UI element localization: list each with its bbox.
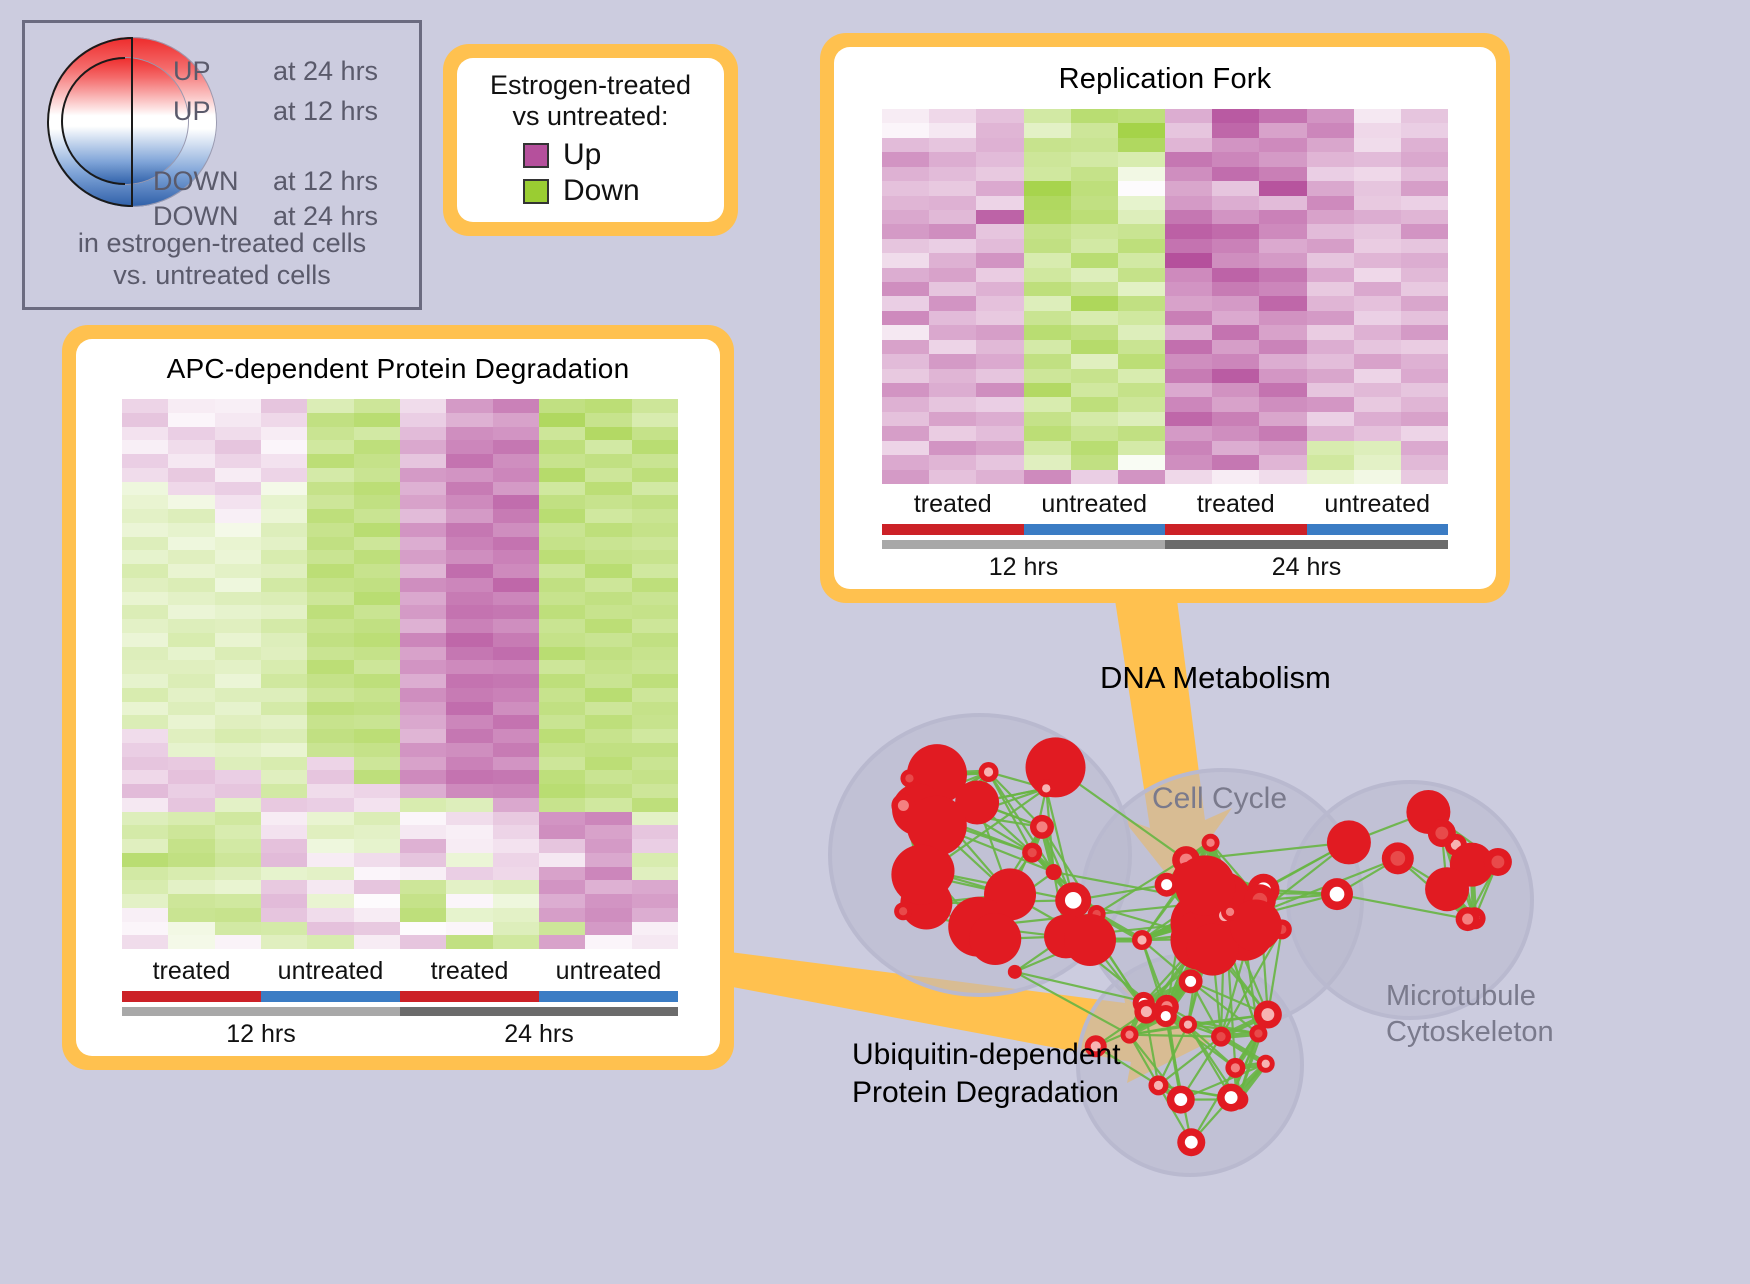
network-label-dna-metabolism: DNA Metabolism [1100, 660, 1331, 696]
heatmap-cell [882, 181, 929, 195]
heatmap-cell [354, 509, 400, 523]
heatmap-cell [1024, 369, 1071, 383]
heatmap-cell [1165, 354, 1212, 368]
heatmap-cell [929, 196, 976, 210]
heatmap-cell [168, 688, 214, 702]
apc-title: APC-dependent Protein Degradation [76, 339, 720, 385]
heatmap-cell [261, 853, 307, 867]
heatmap-cell [1259, 239, 1306, 253]
key-title-line1: Estrogen-treated [467, 70, 714, 101]
heatmap-cell [539, 922, 585, 936]
heatmap-cell [1165, 383, 1212, 397]
heatmap-cell [493, 468, 539, 482]
heatmap-cell [585, 619, 631, 633]
heatmap-cell [632, 853, 678, 867]
heatmap-cell [493, 454, 539, 468]
heatmap-cell [307, 784, 353, 798]
heatmap-cell [400, 867, 446, 881]
heatmap-cell [446, 523, 492, 537]
heatmap-cell [446, 880, 492, 894]
heatmap-cell [1165, 138, 1212, 152]
heatmap-cell [307, 757, 353, 771]
heatmap-cell [1259, 167, 1306, 181]
heatmap-cell [1165, 224, 1212, 238]
heatmap-cell [929, 354, 976, 368]
heatmap-cell [1307, 296, 1354, 310]
heatmap-cell [307, 922, 353, 936]
heatmap-cell [929, 138, 976, 152]
heatmap-cell [632, 427, 678, 441]
heatmap-cell [539, 454, 585, 468]
heatmap-cell [493, 798, 539, 812]
heatmap-cell [1165, 123, 1212, 137]
heatmap-cell [261, 825, 307, 839]
heatmap-cell [1024, 167, 1071, 181]
heatmap-cell [1165, 152, 1212, 166]
heatmap-cell [976, 123, 1023, 137]
heatmap-cell [168, 647, 214, 661]
heatmap-cell [168, 743, 214, 757]
legend-time-down-12: at 12 hrs [273, 166, 378, 197]
heatmap-cell [168, 482, 214, 496]
replication-fork-panel: Replication Fork treateduntreatedtreated… [820, 33, 1510, 603]
group-bar-segment [1165, 540, 1448, 549]
heatmap-cell [585, 853, 631, 867]
heatmap-cell [446, 427, 492, 441]
heatmap-cell [354, 523, 400, 537]
heatmap-cell [929, 282, 976, 296]
heatmap-cell [446, 509, 492, 523]
heatmap-cell [1118, 152, 1165, 166]
heatmap-cell [539, 660, 585, 674]
column-group-label: untreated [1307, 490, 1449, 519]
heatmap-cell [400, 729, 446, 743]
apc-time-labels: 12 hrs24 hrs [122, 1020, 678, 1049]
heatmap-cell [261, 413, 307, 427]
heatmap-cell [1307, 181, 1354, 195]
heatmap-cell [1307, 311, 1354, 325]
column-group-label: untreated [1024, 490, 1166, 519]
heatmap-cell [632, 454, 678, 468]
column-group-label: treated [400, 957, 539, 986]
heatmap-cell [215, 454, 261, 468]
heatmap-cell [122, 468, 168, 482]
heatmap-cell [1259, 325, 1306, 339]
heatmap-cell [929, 311, 976, 325]
heatmap-cell [929, 426, 976, 440]
heatmap-cell [261, 812, 307, 826]
heatmap-cell [261, 592, 307, 606]
heatmap-cell [1259, 123, 1306, 137]
heatmap-cell [493, 784, 539, 798]
heatmap-cell [1259, 152, 1306, 166]
heatmap-cell [446, 867, 492, 881]
heatmap-cell [307, 440, 353, 454]
heatmap-cell [585, 399, 631, 413]
heatmap-cell [976, 412, 1023, 426]
heatmap-cell [354, 550, 400, 564]
heatmap-cell [446, 853, 492, 867]
heatmap-cell [1401, 340, 1448, 354]
heatmap-cell [632, 495, 678, 509]
heatmap-cell [354, 922, 400, 936]
heatmap-cell [493, 578, 539, 592]
heatmap-cell [493, 537, 539, 551]
heatmap-cell [1307, 426, 1354, 440]
heatmap-cell [215, 674, 261, 688]
heatmap-cell [215, 702, 261, 716]
heatmap-cell [122, 578, 168, 592]
heatmap-cell [976, 210, 1023, 224]
heatmap-cell [493, 413, 539, 427]
heatmap-cell [168, 523, 214, 537]
heatmap-cell [354, 578, 400, 592]
heatmap-cell [1354, 455, 1401, 469]
legend-state-up-12: UP [173, 96, 211, 127]
heatmap-cell [354, 770, 400, 784]
heatmap-cell [976, 253, 1023, 267]
heatmap-cell [1071, 441, 1118, 455]
heatmap-cell [168, 770, 214, 784]
heatmap-cell [1307, 224, 1354, 238]
heatmap-cell [354, 935, 400, 949]
heatmap-cell [261, 633, 307, 647]
heatmap-cell [1071, 470, 1118, 484]
heatmap-cell [493, 509, 539, 523]
heatmap-cell [446, 633, 492, 647]
heatmap-cell [400, 688, 446, 702]
heatmap-cell [1071, 325, 1118, 339]
heatmap-cell [261, 605, 307, 619]
heatmap-cell [929, 109, 976, 123]
heatmap-cell [1118, 426, 1165, 440]
heatmap-cell [493, 647, 539, 661]
heatmap-cell [539, 605, 585, 619]
heatmap-cell [1354, 369, 1401, 383]
heatmap-cell [122, 880, 168, 894]
heatmap-cell [215, 935, 261, 949]
heatmap-cell [882, 455, 929, 469]
heatmap-cell [215, 729, 261, 743]
heatmap-cell [168, 550, 214, 564]
heatmap-cell [1118, 123, 1165, 137]
heatmap-cell [585, 867, 631, 881]
heatmap-cell [1259, 455, 1306, 469]
heatmap-cell [122, 922, 168, 936]
heatmap-cell [1118, 325, 1165, 339]
heatmap-cell [493, 743, 539, 757]
heatmap-cell [1212, 181, 1259, 195]
heatmap-cell [882, 325, 929, 339]
heatmap-cell [585, 812, 631, 826]
heatmap-cell [122, 674, 168, 688]
heatmap-cell [215, 427, 261, 441]
heatmap-cell [1354, 296, 1401, 310]
heatmap-cell [122, 633, 168, 647]
heatmap-cell [1165, 268, 1212, 282]
heatmap-cell [632, 702, 678, 716]
heatmap-cell [1401, 354, 1448, 368]
heatmap-cell [1118, 224, 1165, 238]
heatmap-cell [168, 894, 214, 908]
heatmap-cell [632, 550, 678, 564]
heatmap-cell [493, 495, 539, 509]
heatmap-cell [400, 454, 446, 468]
heatmap-cell [539, 757, 585, 771]
heatmap-cell [307, 935, 353, 949]
heatmap-cell [1071, 253, 1118, 267]
network-node-core [1462, 914, 1473, 925]
column-group-label: treated [122, 957, 261, 986]
heatmap-cell [585, 825, 631, 839]
heatmap-cell [632, 674, 678, 688]
heatmap-cell [1165, 296, 1212, 310]
heatmap-cell [1401, 196, 1448, 210]
heatmap-cell [493, 812, 539, 826]
heatmap-cell [1212, 210, 1259, 224]
heatmap-cell [1259, 224, 1306, 238]
heatmap-cell [1307, 123, 1354, 137]
heatmap-cell [1354, 325, 1401, 339]
heatmap-cell [882, 383, 929, 397]
heatmap-cell [446, 495, 492, 509]
heatmap-cell [215, 743, 261, 757]
heatmap-cell [493, 482, 539, 496]
heatmap-cell [493, 853, 539, 867]
heatmap-cell [1118, 196, 1165, 210]
heatmap-cell [1024, 426, 1071, 440]
heatmap-cell [1401, 369, 1448, 383]
heatmap-cell [1024, 181, 1071, 195]
heatmap-cell [539, 853, 585, 867]
network-node [1046, 864, 1062, 880]
heatmap-cell [493, 592, 539, 606]
heatmap-cell [307, 399, 353, 413]
heatmap-cell [976, 109, 1023, 123]
heatmap-cell [400, 605, 446, 619]
heatmap-cell [976, 455, 1023, 469]
heatmap-cell [882, 282, 929, 296]
heatmap-cell [1212, 282, 1259, 296]
heatmap-cell [585, 729, 631, 743]
heatmap-cell [446, 743, 492, 757]
heatmap-cell [929, 340, 976, 354]
network-node-core [1254, 1029, 1262, 1037]
heatmap-cell [122, 592, 168, 606]
heatmap-cell [1212, 455, 1259, 469]
heatmap-cell [354, 853, 400, 867]
network-node-core [1491, 856, 1504, 869]
heatmap-cell [446, 770, 492, 784]
heatmap-cell [400, 647, 446, 661]
heatmap-cell [976, 311, 1023, 325]
heatmap-cell [539, 578, 585, 592]
heatmap-cell [1071, 455, 1118, 469]
heatmap-cell [539, 399, 585, 413]
heatmap-cell [1354, 138, 1401, 152]
heatmap-cell [882, 354, 929, 368]
network-node-core [1161, 879, 1172, 890]
heatmap-cell [168, 853, 214, 867]
heatmap-cell [929, 397, 976, 411]
heatmap-cell [493, 757, 539, 771]
group-bar-segment [1024, 524, 1166, 535]
heatmap-cell [1259, 138, 1306, 152]
heatmap-cell [882, 311, 929, 325]
heatmap-cell [1212, 253, 1259, 267]
heatmap-cell [882, 470, 929, 484]
heatmap-cell [261, 839, 307, 853]
heatmap-cell [929, 296, 976, 310]
heatmap-cell [539, 495, 585, 509]
heatmap-cell [585, 523, 631, 537]
up-color-swatch [523, 143, 549, 168]
heatmap-cell [976, 383, 1023, 397]
heatmap-cell [1212, 224, 1259, 238]
heatmap-cell [261, 523, 307, 537]
heatmap-cell [493, 633, 539, 647]
heatmap-cell [1259, 196, 1306, 210]
network-node-core [899, 907, 907, 915]
heatmap-cell [261, 482, 307, 496]
heatmap-cell [882, 224, 929, 238]
heatmap-cell [122, 550, 168, 564]
heatmap-cell [493, 660, 539, 674]
heatmap-cell [976, 152, 1023, 166]
heatmap-cell [122, 660, 168, 674]
heatmap-cell [1165, 470, 1212, 484]
heatmap-cell [122, 605, 168, 619]
heatmap-cell [632, 592, 678, 606]
heatmap-cell [493, 702, 539, 716]
heatmap-cell [122, 784, 168, 798]
heatmap-cell [882, 340, 929, 354]
heatmap-cell [307, 413, 353, 427]
heatmap-cell [1165, 397, 1212, 411]
network-node-core [1161, 1011, 1171, 1021]
heatmap-cell [1401, 311, 1448, 325]
heatmap-cell [122, 935, 168, 949]
heatmap-cell [354, 564, 400, 578]
heatmap-cell [929, 369, 976, 383]
heatmap-cell [882, 167, 929, 181]
heatmap-cell [400, 674, 446, 688]
heatmap-cell [446, 715, 492, 729]
network-node-core [1036, 821, 1047, 832]
heatmap-cell [1354, 268, 1401, 282]
heatmap-cell [1354, 196, 1401, 210]
heatmap-cell [1401, 455, 1448, 469]
heatmap-cell [1165, 455, 1212, 469]
heatmap-cell [539, 647, 585, 661]
heatmap-cell [307, 729, 353, 743]
heatmap-cell [354, 729, 400, 743]
heatmap-cell [1307, 412, 1354, 426]
heatmap-cell [307, 564, 353, 578]
heatmap-cell [585, 564, 631, 578]
heatmap-cell [354, 825, 400, 839]
heatmap-cell [976, 282, 1023, 296]
heatmap-cell [1212, 412, 1259, 426]
heatmap-cell [882, 397, 929, 411]
heatmap-cell [307, 908, 353, 922]
heatmap-cell [446, 647, 492, 661]
heatmap-cell [307, 839, 353, 853]
heatmap-cell [400, 413, 446, 427]
heatmap-cell [261, 468, 307, 482]
heatmap-cell [307, 427, 353, 441]
heatmap-cell [168, 880, 214, 894]
heatmap-cell [307, 702, 353, 716]
heatmap-cell [122, 688, 168, 702]
heatmap-cell [1024, 152, 1071, 166]
heatmap-cell [1024, 397, 1071, 411]
heatmap-cell [215, 564, 261, 578]
heatmap-cell [882, 412, 929, 426]
network-node [1425, 867, 1469, 911]
group-bar-segment [400, 991, 539, 1002]
heatmap-cell [1212, 470, 1259, 484]
heatmap-cell [585, 413, 631, 427]
column-group-label: 24 hrs [1165, 553, 1448, 582]
heatmap-cell [1259, 109, 1306, 123]
heatmap-cell [1071, 354, 1118, 368]
heatmap-cell [632, 619, 678, 633]
heatmap-cell [400, 935, 446, 949]
heatmap-cell [168, 509, 214, 523]
heatmap-cell [1259, 426, 1306, 440]
heatmap-cell [122, 729, 168, 743]
heatmap-cell [1259, 441, 1306, 455]
heatmap-cell [446, 784, 492, 798]
heatmap-cell [307, 578, 353, 592]
heatmap-cell [539, 880, 585, 894]
heatmap-cell [446, 399, 492, 413]
heatmap-cell [168, 839, 214, 853]
heatmap-cell [400, 798, 446, 812]
color-key-panel: Estrogen-treated vs untreated: Up Down [443, 44, 738, 236]
heatmap-cell [632, 468, 678, 482]
heatmap-cell [585, 935, 631, 949]
heatmap-cell [215, 880, 261, 894]
heatmap-cell [215, 578, 261, 592]
heatmap-cell [882, 210, 929, 224]
heatmap-cell [168, 812, 214, 826]
heatmap-cell [307, 633, 353, 647]
heatmap-cell [261, 729, 307, 743]
heatmap-cell [261, 564, 307, 578]
apc-treatment-bar [122, 991, 678, 1002]
heatmap-cell [400, 894, 446, 908]
heatmap-cell [1212, 354, 1259, 368]
heatmap-cell [882, 239, 929, 253]
heatmap-cell [539, 743, 585, 757]
heatmap-cell [1118, 340, 1165, 354]
heatmap-cell [1354, 441, 1401, 455]
heatmap-cell [1307, 354, 1354, 368]
heatmap-cell [1118, 311, 1165, 325]
heatmap-cell [585, 908, 631, 922]
heatmap-cell [1307, 138, 1354, 152]
heatmap-cell [1401, 426, 1448, 440]
column-group-label: 24 hrs [400, 1020, 678, 1049]
heatmap-cell [1071, 196, 1118, 210]
network-node-core [1330, 887, 1345, 902]
heatmap-cell [929, 441, 976, 455]
heatmap-cell [1401, 383, 1448, 397]
heatmap-cell [539, 550, 585, 564]
heatmap-cell [307, 509, 353, 523]
